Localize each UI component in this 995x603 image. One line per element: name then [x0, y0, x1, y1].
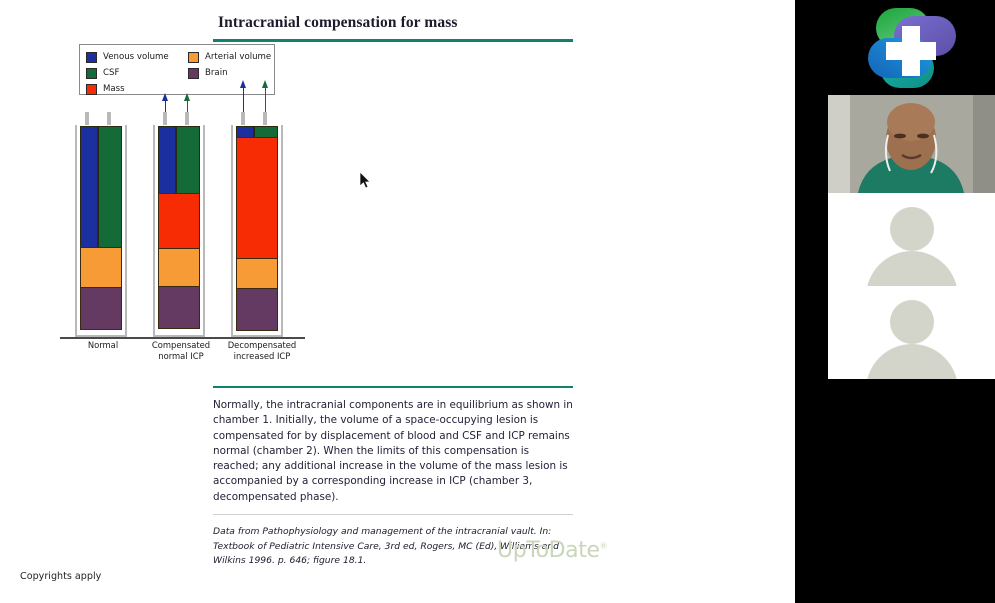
chamber-3-arterial-volume [236, 258, 278, 289]
figure-card: Intracranial compensation for mass [213, 8, 573, 42]
legend-label-arterial-volume: Arterial volume [205, 52, 271, 62]
chamber-1-venous-volume [80, 126, 98, 248]
chamber-1-contents [80, 126, 122, 332]
legend-swatch-venous-volume [86, 52, 97, 63]
chamber-1-csf [98, 126, 122, 248]
legend-label-csf: CSF [103, 68, 119, 78]
chamber-2-arterial-volume [158, 248, 200, 287]
chamber-2-vessel [153, 125, 205, 337]
uptodate-logo-mark: ® [600, 542, 608, 551]
chamber-3-venous-arrow-stem [243, 86, 244, 112]
legend-column-right: Arterial volume Brain [188, 50, 271, 82]
uptodate-logo-text: UpToDate [497, 538, 600, 563]
legend-item-mass: Mass [86, 82, 169, 96]
chamber-3-contents [236, 126, 278, 332]
chamber-label-compensated-line2: normal ICP [143, 351, 219, 362]
chamber-label-compensated-line1: Compensated [143, 340, 219, 351]
video-tile-organization-logo[interactable] [828, 0, 995, 95]
chamber-3-brain [236, 288, 278, 331]
copyright-notice: Copyrights apply [20, 571, 101, 582]
uptodate-logo: UpToDate® [497, 538, 607, 563]
legend-label-venous-volume: Venous volume [103, 52, 169, 62]
legend-item-csf: CSF [86, 66, 169, 80]
legend-column-left: Venous volume CSF Mass [86, 50, 169, 98]
body-top-divider [213, 386, 573, 388]
citation-divider [213, 514, 573, 515]
intracranial-compensation-chart: Normal Compensated normal ICP Decompensa… [60, 104, 305, 349]
legend-swatch-arterial-volume [188, 52, 199, 63]
participant-1-avatar-head-icon [890, 207, 934, 251]
organization-pinwheel-logo-icon [852, 2, 972, 94]
video-participant-rail [795, 0, 995, 603]
chamber-2-csf [176, 126, 200, 194]
participant-2-avatar-body-icon [866, 344, 958, 379]
chamber-label-normal: Normal [65, 340, 141, 351]
chamber-3-mass [236, 137, 278, 259]
chamber-1-brain [80, 287, 122, 330]
chamber-2-mass [158, 193, 200, 249]
chamber-3-venous-arrow-head [240, 80, 246, 88]
chamber-1-normal [75, 112, 131, 337]
figure-description-text: Normally, the intracranial components ar… [213, 398, 575, 505]
participant-2-avatar-head-icon [890, 300, 934, 344]
chamber-2-brain [158, 286, 200, 329]
legend-item-arterial-volume: Arterial volume [188, 50, 271, 64]
legend-swatch-brain [188, 68, 199, 79]
legend-swatch-mass [86, 84, 97, 95]
chamber-1-arterial-volume [80, 247, 122, 288]
legend-label-mass: Mass [103, 84, 125, 94]
mouse-cursor-icon [360, 172, 372, 190]
title-divider [213, 39, 573, 42]
chamber-label-normal-line1: Normal [65, 340, 141, 351]
legend-item-venous-volume: Venous volume [86, 50, 169, 64]
chamber-1-vessel [75, 125, 127, 337]
chamber-2-csf-arrow-head [184, 93, 190, 101]
chamber-3-vessel [231, 125, 283, 337]
legend-label-brain: Brain [205, 68, 228, 78]
chamber-label-decompensated-line1: Decompensated [221, 340, 303, 351]
video-tile-active-speaker[interactable] [828, 95, 995, 193]
chamber-2-venous-arrow-head [162, 93, 168, 101]
chart-baseline [60, 337, 305, 339]
chamber-label-decompensated-line2: increased ICP [221, 351, 303, 362]
chamber-3-decompensated [231, 87, 287, 337]
chamber-1-blood-csf-band [80, 126, 122, 248]
chamber-3-csf-arrow-stem [265, 86, 266, 112]
chamber-2-blood-csf-band [158, 126, 200, 194]
chamber-label-compensated: Compensated normal ICP [143, 340, 219, 361]
legend-item-brain: Brain [188, 66, 271, 80]
figure-title: Intracranial compensation for mass [218, 14, 573, 32]
participant-1-avatar-body-icon [866, 251, 958, 286]
chamber-3-csf-arrow-head [262, 80, 268, 88]
video-tile-participant-2[interactable] [828, 286, 995, 379]
chamber-label-decompensated: Decompensated increased ICP [221, 340, 303, 361]
chamber-2-compensated [153, 102, 209, 337]
chamber-2-venous-volume [158, 126, 176, 194]
legend-swatch-csf [86, 68, 97, 79]
slide-content-area: Intracranial compensation for mass Venou… [0, 0, 795, 603]
chamber-2-contents [158, 126, 200, 332]
video-tile-participant-1[interactable] [828, 193, 995, 286]
speaker-webcam-frame [828, 95, 995, 193]
